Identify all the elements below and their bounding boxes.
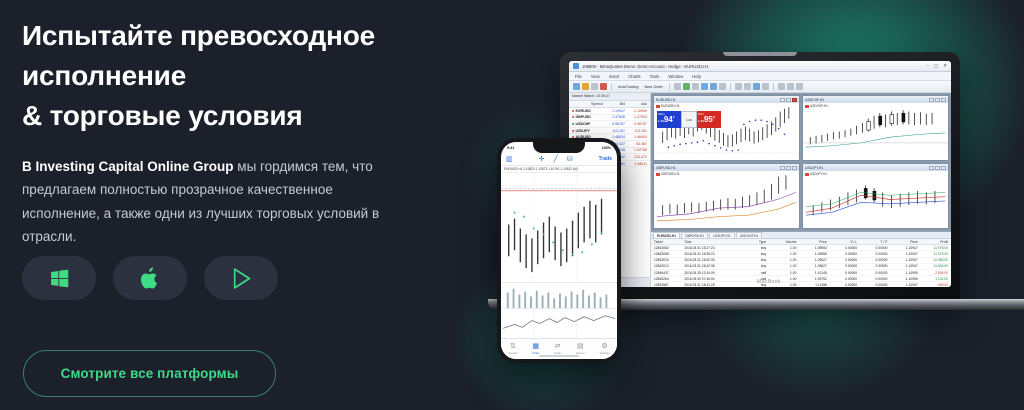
ask-value: 1.47653 bbox=[625, 115, 647, 119]
chart-window-eurusd[interactable]: EURUSD,H1 bbox=[653, 95, 800, 161]
phone-candlestick-chart[interactable] bbox=[501, 173, 617, 282]
column-profit: Profit bbox=[918, 240, 948, 244]
platform-button-google-play[interactable] bbox=[204, 256, 278, 300]
zoom-out-icon[interactable] bbox=[710, 83, 717, 90]
phone-chart-info: EURUSD,H1 1.10823 1.10873 1.10761 1.1081… bbox=[501, 166, 617, 173]
cell-time: 2016.03.31 15:42:33 bbox=[684, 258, 736, 262]
buy-label: BUY bbox=[697, 111, 721, 116]
cell-time: 2016.03.28 12:34:09 bbox=[684, 271, 736, 275]
buy-price: 1.10950 bbox=[697, 116, 721, 124]
cell-sl: 0.00000 bbox=[827, 271, 857, 275]
cell-ticket: 12843012 bbox=[654, 264, 684, 268]
chart-title-bar: USDJPY,H1 bbox=[803, 164, 948, 171]
cell-tp: 0.00000 bbox=[857, 258, 887, 262]
phone-home-indicator bbox=[539, 355, 579, 357]
phone-trade-link[interactable]: Trade bbox=[599, 156, 612, 162]
window-title-bar: 108800 - MetaQuotes-Demo: Demo Account -… bbox=[569, 61, 951, 72]
cell-time: 2016.03.31 15:27:23 bbox=[684, 246, 736, 250]
indicators-icon[interactable]: ⛁ bbox=[567, 156, 573, 163]
view-all-platforms-button[interactable]: Смотрите все платформы bbox=[23, 350, 276, 397]
window-controls: − ▢ ✕ bbox=[926, 63, 947, 69]
app-icon bbox=[573, 63, 579, 69]
phone-screen: 9:41 100% ▥ ✛ ╱ ⛁ Trade EURUSD,H1 1.1082… bbox=[501, 142, 617, 359]
bid-value: 113.157 bbox=[603, 129, 625, 133]
bid-value: 1.47636 bbox=[603, 115, 625, 119]
phone-mockup: 9:41 100% ▥ ✛ ╱ ⛁ Trade EURUSD,H1 1.1082… bbox=[497, 138, 621, 363]
period-h1-icon[interactable] bbox=[744, 83, 751, 90]
minimize-icon[interactable] bbox=[929, 98, 934, 102]
cell-sl: 0.00000 bbox=[827, 246, 857, 250]
cell-volume: 1.00 bbox=[766, 246, 796, 250]
symbol-name: USDJPY bbox=[576, 129, 590, 133]
chart-title-bar: EURUSD,H1 bbox=[654, 96, 799, 103]
chart-symbol-tag: USDCHF,H1 bbox=[805, 104, 828, 108]
close-icon[interactable] bbox=[941, 166, 946, 170]
charts-area: EURUSD,H1 bbox=[651, 93, 951, 287]
phone-line-svg bbox=[501, 309, 617, 338]
phone-toolbar: ▥ ✛ ╱ ⛁ Trade bbox=[501, 153, 617, 166]
ask-value: 1.10950 bbox=[625, 109, 647, 113]
menu-item-tools[interactable]: Tools bbox=[650, 74, 660, 79]
chart-plot: USDCHF,H1 bbox=[803, 103, 948, 160]
cell-price: 1.09627 bbox=[796, 264, 826, 268]
close-icon[interactable] bbox=[941, 98, 946, 102]
new-chart-icon[interactable] bbox=[573, 83, 580, 90]
phone-volume-svg bbox=[501, 283, 617, 308]
cell-profit: 11 975.00 bbox=[918, 252, 948, 256]
candlestick-chart-usdjpy bbox=[803, 171, 948, 228]
direction-dot-icon bbox=[572, 110, 574, 112]
cell-ticket: 12843083 bbox=[654, 246, 684, 250]
platform-button-windows[interactable] bbox=[22, 256, 96, 300]
toolbar-separator-4 bbox=[773, 83, 774, 91]
google-play-icon bbox=[231, 267, 252, 290]
chart-type-icon[interactable]: ▥ bbox=[506, 156, 513, 163]
hero-banner: Испытайте превосходное исполнение & торг… bbox=[0, 0, 1024, 410]
column-ask: Ask bbox=[625, 102, 647, 106]
cell-price-current: 1.10995 bbox=[887, 271, 917, 275]
bid-value: 0.98757 bbox=[603, 122, 625, 126]
grid-icon[interactable] bbox=[719, 83, 726, 90]
close-button[interactable]: ✕ bbox=[943, 63, 947, 69]
apple-icon bbox=[140, 267, 161, 290]
column-volume: Volume bbox=[766, 240, 796, 244]
cell-price: 1.09627 bbox=[796, 258, 826, 262]
ask-value: 123.472 bbox=[625, 155, 647, 159]
chart-title: EURUSD,H1 bbox=[656, 98, 676, 102]
toolbar-separator bbox=[611, 83, 612, 91]
cell-tp: 0.00000 bbox=[857, 252, 887, 256]
ask-value: 1.22766 bbox=[625, 148, 647, 152]
menu-item-file[interactable]: File bbox=[575, 74, 582, 79]
chart-window-controls bbox=[929, 98, 946, 102]
column-price-current: Price bbox=[887, 240, 917, 244]
ask-value: 113.281 bbox=[625, 129, 647, 133]
column-ticket: Ticket bbox=[654, 240, 684, 244]
cell-ticket: 12846437 bbox=[654, 271, 684, 275]
table-row[interactable]: GBPUSD1.476361.47653 bbox=[569, 115, 650, 122]
phone-line-chart bbox=[501, 308, 617, 338]
chart-symbol-tag: USDJPY,H1 bbox=[805, 172, 827, 176]
minimize-icon[interactable] bbox=[929, 166, 934, 170]
ask-value: 1.08611 bbox=[625, 162, 647, 166]
chart-window-controls bbox=[929, 166, 946, 170]
minimize-button[interactable]: − bbox=[926, 63, 929, 69]
cell-profit: -2 636.00 bbox=[918, 271, 948, 275]
cell-volume: 1.00 bbox=[766, 264, 796, 268]
terminal-tabs: EURUSD,H1 GBPUSD,H1 USDJPY,H1 USDCHF,H1 bbox=[651, 232, 951, 239]
menu-bar: File View Insert Charts Tools Window Hel… bbox=[569, 72, 951, 81]
cell-price-current: 1.10947 bbox=[887, 258, 917, 262]
windows-icon bbox=[49, 268, 70, 289]
column-tp: T / P bbox=[857, 240, 887, 244]
symbol-badge-icon bbox=[656, 105, 660, 108]
column-time: Time bbox=[684, 240, 736, 244]
maximize-icon[interactable] bbox=[935, 166, 940, 170]
symbol-badge-icon bbox=[656, 173, 660, 176]
chart-plot: EURUSD,H1 SELL 1.10947 1.00 bbox=[654, 103, 799, 160]
menu-item-insert[interactable]: Insert bbox=[609, 74, 619, 79]
platform-buttons bbox=[22, 256, 278, 300]
cell-sl: 0.00000 bbox=[827, 252, 857, 256]
terminal-tab-usdjpy[interactable]: USDJPY,H1 bbox=[709, 232, 735, 238]
sell-label: SELL bbox=[657, 111, 681, 116]
terminal-tab-usdchf[interactable]: USDCHF,H1 bbox=[736, 232, 763, 238]
column-sl: S / L bbox=[827, 240, 857, 244]
sell-price-main: 94 bbox=[664, 115, 673, 124]
bar-chart-icon[interactable] bbox=[674, 83, 681, 90]
cell-tp: 0.00000 bbox=[857, 246, 887, 250]
cell-time: 2016.03.31 15:42:38 bbox=[684, 264, 736, 268]
trade-icon: ⇄ bbox=[555, 343, 561, 350]
cell-price-current: 1.10947 bbox=[887, 246, 917, 250]
one-click-trading-panel: SELL 1.10947 1.00 BUY bbox=[657, 111, 721, 128]
terminal-tab-gbpusd[interactable]: GBPUSD,H1 bbox=[681, 232, 708, 238]
toolbar-separator-2 bbox=[669, 83, 670, 91]
autotrading-button[interactable]: AutoTrading bbox=[616, 85, 641, 89]
crosshair-icon[interactable]: ✛ bbox=[539, 156, 545, 163]
cell-type: buy bbox=[736, 246, 766, 250]
sell-button[interactable]: SELL 1.10947 bbox=[657, 111, 681, 128]
close-icon[interactable] bbox=[792, 166, 797, 170]
volume-stepper[interactable]: 1.00 bbox=[681, 111, 697, 128]
chart-window-controls bbox=[780, 98, 797, 102]
menu-item-view[interactable]: View bbox=[591, 74, 600, 79]
candlestick-chart-gbpusd bbox=[654, 171, 799, 228]
cell-price: 1.09553 bbox=[796, 246, 826, 250]
candlestick-icon[interactable] bbox=[683, 83, 690, 90]
trendline-icon[interactable]: ╱ bbox=[554, 156, 558, 163]
phone-tab-trade[interactable]: ⇄ Trade bbox=[554, 343, 561, 355]
cell-type: buy bbox=[736, 252, 766, 256]
chart-title: GBPUSD,H1 bbox=[656, 166, 676, 170]
phone-notch bbox=[533, 142, 585, 153]
buy-button[interactable]: BUY 1.10950 bbox=[697, 111, 721, 128]
menu-item-window[interactable]: Window bbox=[668, 74, 683, 79]
cell-price-current: 1.10947 bbox=[887, 252, 917, 256]
column-price: Price bbox=[796, 240, 826, 244]
hero-description: В Investing Capital Online Group мы горд… bbox=[22, 155, 397, 248]
cell-sl: 0.00000 bbox=[827, 264, 857, 268]
toolbar-separator-3 bbox=[730, 83, 731, 91]
maximize-icon[interactable] bbox=[786, 98, 791, 102]
hero-copy: Испытайте превосходное исполнение & торг… bbox=[22, 16, 442, 248]
menu-item-help[interactable]: Help bbox=[692, 74, 701, 79]
market-watch-icon[interactable] bbox=[600, 83, 607, 90]
chart-title: USDJPY,H1 bbox=[805, 166, 823, 170]
maximize-icon[interactable] bbox=[935, 98, 940, 102]
table-row[interactable]: EURUSD1.109471.10950 bbox=[569, 108, 650, 115]
cell-profit: 11 600.00 bbox=[918, 264, 948, 268]
candlestick-chart-usdchf bbox=[803, 103, 948, 160]
chart-title-bar: GBPUSD,H1 bbox=[654, 164, 799, 171]
chart-title: USDCHF,H1 bbox=[805, 98, 824, 102]
settings-icon: ⚙ bbox=[601, 343, 607, 350]
chart-window-usdjpy[interactable]: USDJPY,H1 bbox=[802, 163, 949, 229]
fibonacci-icon[interactable] bbox=[787, 83, 794, 90]
cell-tp: 0.00000 bbox=[857, 271, 887, 275]
save-icon[interactable] bbox=[591, 83, 598, 90]
cell-volume: 1.00 bbox=[766, 252, 796, 256]
chart-window-controls bbox=[780, 166, 797, 170]
cell-profit: 11 975.00 bbox=[918, 246, 948, 250]
metatrader-window: 108800 - MetaQuotes-Demo: Demo Account -… bbox=[569, 61, 951, 287]
phone-tab-history[interactable]: ▤ History bbox=[576, 343, 585, 355]
symbol-name: EURUSD bbox=[576, 109, 591, 113]
laptop-camera-notch bbox=[723, 52, 797, 56]
text-tool-icon[interactable] bbox=[796, 83, 803, 90]
ask-value: 54.487 bbox=[625, 142, 647, 146]
cell-ticket: 12843034 bbox=[654, 258, 684, 262]
laptop-brand-label: MacBook bbox=[569, 279, 951, 285]
headline-line-1: Испытайте превосходное bbox=[22, 16, 442, 56]
close-icon[interactable] bbox=[792, 98, 797, 102]
phone-tab-quotes[interactable]: ⇅ Quotes bbox=[508, 343, 517, 355]
sell-price: 1.10947 bbox=[657, 116, 681, 124]
symbol-name: USDCHF bbox=[576, 122, 591, 126]
cell-profit: 11 490.00 bbox=[918, 258, 948, 262]
cell-type: sell bbox=[736, 271, 766, 275]
minimize-icon[interactable] bbox=[780, 98, 785, 102]
chart-symbol-tag: GBPUSD,H1 bbox=[656, 172, 679, 176]
platform-button-apple[interactable] bbox=[113, 256, 187, 300]
minimize-icon[interactable] bbox=[780, 166, 785, 170]
zoom-in-icon[interactable] bbox=[701, 83, 708, 90]
volume-value: 1.00 bbox=[686, 118, 692, 122]
phone-tab-settings[interactable]: ⚙ Settings bbox=[599, 343, 609, 355]
direction-dot-icon bbox=[572, 130, 574, 132]
buy-price-main: 95 bbox=[704, 115, 713, 124]
chart-grid: EURUSD,H1 bbox=[651, 93, 951, 231]
cell-price-current: 1.10947 bbox=[887, 264, 917, 268]
profiles-icon[interactable] bbox=[582, 83, 589, 90]
trendline-icon[interactable] bbox=[778, 83, 785, 90]
cell-ticket: 12843068 bbox=[654, 252, 684, 256]
ask-value: 0.98787 bbox=[625, 122, 647, 126]
workspace: Market Watch: 10:39:27 Symbol Bid Ask EU… bbox=[569, 93, 951, 287]
cell-volume: 1.00 bbox=[766, 258, 796, 262]
new-order-button[interactable]: New Order bbox=[643, 85, 665, 89]
bid-value: 1.10947 bbox=[603, 109, 625, 113]
cell-type: buy bbox=[736, 264, 766, 268]
status-time: 9:41 bbox=[507, 146, 514, 150]
period-m1-icon[interactable] bbox=[735, 83, 742, 90]
chart-symbol-label: USDJPY,H1 bbox=[810, 172, 827, 176]
cell-time: 2016.03.31 15:39:23 bbox=[684, 252, 736, 256]
window-title: 108800 - MetaQuotes-Demo: Demo Account -… bbox=[582, 64, 923, 69]
cell-tp: 0.00000 bbox=[857, 264, 887, 268]
column-symbol: Symbol bbox=[572, 102, 603, 106]
phone-tab-label: Chart bbox=[532, 351, 539, 355]
menu-item-charts[interactable]: Charts bbox=[628, 74, 640, 79]
toolbar: AutoTrading New Order bbox=[569, 81, 951, 93]
maximize-icon[interactable] bbox=[786, 166, 791, 170]
chart-symbol-label: GBPUSD,H1 bbox=[661, 172, 679, 176]
symbol-badge-icon bbox=[805, 105, 809, 108]
quotes-icon: ⇅ bbox=[510, 343, 516, 350]
column-bid: Bid bbox=[603, 102, 625, 106]
cell-type: buy bbox=[736, 258, 766, 262]
market-watch-title: Market Watch: 10:39:27 bbox=[569, 93, 650, 101]
cursor-icon[interactable] bbox=[753, 83, 760, 90]
market-watch-columns: Symbol Bid Ask bbox=[569, 101, 650, 108]
cell-sl: 0.00000 bbox=[827, 258, 857, 262]
maximize-button[interactable]: ▢ bbox=[934, 63, 938, 69]
page-title: Испытайте превосходное исполнение & торг… bbox=[22, 16, 442, 135]
symbol-badge-icon bbox=[805, 173, 809, 176]
direction-dot-icon bbox=[572, 123, 574, 125]
status-battery: 100% bbox=[602, 146, 611, 150]
chart-plot: USDJPY,H1 bbox=[803, 171, 948, 228]
cell-price: 1.09555 bbox=[796, 252, 826, 256]
ask-value: 1.48404 bbox=[625, 135, 647, 139]
headline-line-2: исполнение bbox=[22, 56, 442, 96]
brand-name: В Investing Capital Online Group bbox=[22, 159, 234, 174]
chart-symbol-label: EURUSD,H1 bbox=[661, 104, 679, 108]
chart-symbol-tag: EURUSD,H1 bbox=[656, 104, 679, 108]
headline-line-3: & торговые условия bbox=[22, 96, 442, 136]
terminal-tab-eurusd[interactable]: EURUSD,H1 bbox=[653, 232, 680, 238]
crosshair-icon[interactable] bbox=[762, 83, 769, 90]
direction-dot-icon bbox=[572, 116, 574, 118]
chart-window-gbpusd[interactable]: GBPUSD,H1 bbox=[653, 163, 800, 229]
chart-title-bar: USDCHF,H1 bbox=[803, 96, 948, 103]
phone-volume-chart bbox=[501, 282, 617, 308]
chart-window-usdchf[interactable]: USDCHF,H1 bbox=[802, 95, 949, 161]
phone-tab-label: Quotes bbox=[508, 351, 517, 355]
phone-chart-svg bbox=[501, 173, 617, 282]
chart-symbol-label: USDCHF,H1 bbox=[810, 104, 828, 108]
table-row[interactable]: USDJPY113.157113.281 bbox=[569, 128, 650, 135]
chart-icon: ▦ bbox=[532, 343, 539, 350]
line-chart-icon[interactable] bbox=[692, 83, 699, 90]
history-icon: ▤ bbox=[577, 343, 584, 350]
column-type: Type bbox=[736, 240, 766, 244]
table-row[interactable]: USDCHF0.987570.98787 bbox=[569, 121, 650, 128]
phone-toolbar-tools: ✛ ╱ ⛁ bbox=[539, 156, 573, 163]
phone-tab-label: Settings bbox=[599, 351, 609, 355]
cell-volume: 1.00 bbox=[766, 271, 796, 275]
cell-price: 1.10145 bbox=[796, 271, 826, 275]
chart-plot: GBPUSD,H1 bbox=[654, 171, 799, 228]
symbol-name: GBPUSD bbox=[576, 115, 591, 119]
phone-tab-chart[interactable]: ▦ Chart bbox=[532, 343, 539, 355]
